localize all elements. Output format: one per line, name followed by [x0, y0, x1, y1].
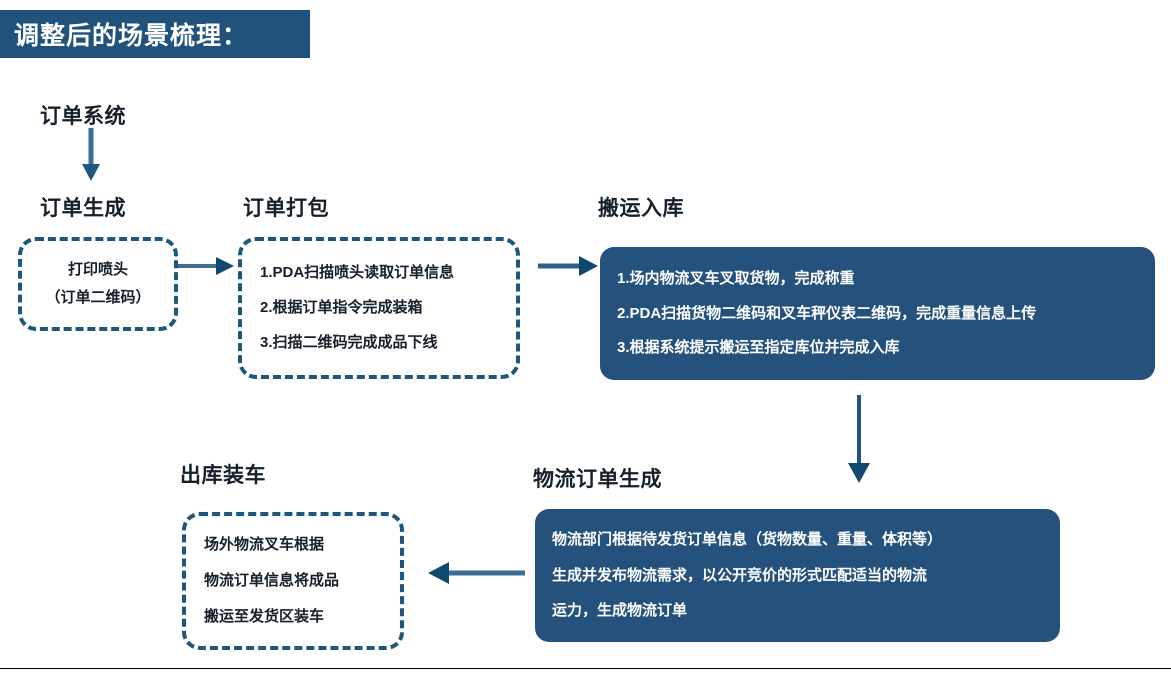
node-outbound-loading[interactable]: 场外物流叉车根据 物流订单信息将成品 搬运至发货区装车 [182, 512, 404, 650]
arrow-logistics-order-to-outbound [425, 559, 525, 587]
node-outbound-loading-line-1: 场外物流叉车根据 [204, 537, 400, 553]
node-logistics-order-line-1: 物流部门根据待发货订单信息（货物数量、重量、体积等） [552, 532, 1060, 548]
node-print-nozzle[interactable]: 打印喷头 （订单二维码） [18, 237, 178, 331]
node-order-packing[interactable]: 1.PDA扫描喷头读取订单信息 2.根据订单指令完成装箱 3.扫描二维码完成成品… [238, 237, 520, 379]
node-logistics-order-line-2: 生成并发布物流需求，以公开竞价的形式匹配适当的物流 [552, 568, 1060, 584]
caption-logistics-order-generation: 物流订单生成 [533, 463, 662, 493]
arrow-packing-to-storage [538, 252, 600, 280]
arrow-storage-to-logistics-order [845, 395, 873, 485]
node-order-packing-line-2: 2.根据订单指令完成装箱 [260, 300, 516, 316]
caption-move-in-storage: 搬运入库 [598, 192, 684, 222]
arrow-order-system-to-generation [78, 128, 104, 183]
node-logistics-order-line-3: 运力，生成物流订单 [552, 603, 1060, 619]
node-move-in-storage-line-2: 2.PDA扫描货物二维码和叉车秤仪表二维码，完成重量信息上传 [617, 306, 1155, 322]
node-outbound-loading-line-2: 物流订单信息将成品 [204, 573, 400, 589]
node-print-nozzle-line-1: 打印喷头 [68, 262, 128, 278]
arrow-generation-to-packing [178, 252, 236, 280]
node-move-in-storage-line-3: 3.根据系统提示搬运至指定库位并完成入库 [617, 340, 1155, 356]
node-order-packing-line-3: 3.扫描二维码完成成品下线 [260, 335, 516, 351]
node-move-in-storage[interactable]: 1.场内物流叉车叉取货物，完成称重 2.PDA扫描货物二维码和叉车秤仪表二维码，… [600, 247, 1155, 380]
caption-order-generation: 订单生成 [40, 192, 126, 222]
node-print-nozzle-line-2: （订单二维码） [45, 290, 150, 306]
node-move-in-storage-line-1: 1.场内物流叉车叉取货物，完成称重 [617, 271, 1155, 287]
caption-order-system: 订单系统 [40, 100, 126, 130]
node-logistics-order[interactable]: 物流部门根据待发货订单信息（货物数量、重量、体积等） 生成并发布物流需求，以公开… [535, 509, 1060, 642]
page-title-banner: 调整后的场景梳理： [0, 10, 310, 58]
bottom-divider [0, 668, 1171, 669]
caption-outbound-loading: 出库装车 [180, 459, 266, 489]
node-order-packing-line-1: 1.PDA扫描喷头读取订单信息 [260, 265, 516, 281]
caption-order-packing: 订单打包 [243, 192, 329, 222]
page-title: 调整后的场景梳理： [14, 16, 248, 52]
node-outbound-loading-line-3: 搬运至发货区装车 [204, 609, 400, 625]
